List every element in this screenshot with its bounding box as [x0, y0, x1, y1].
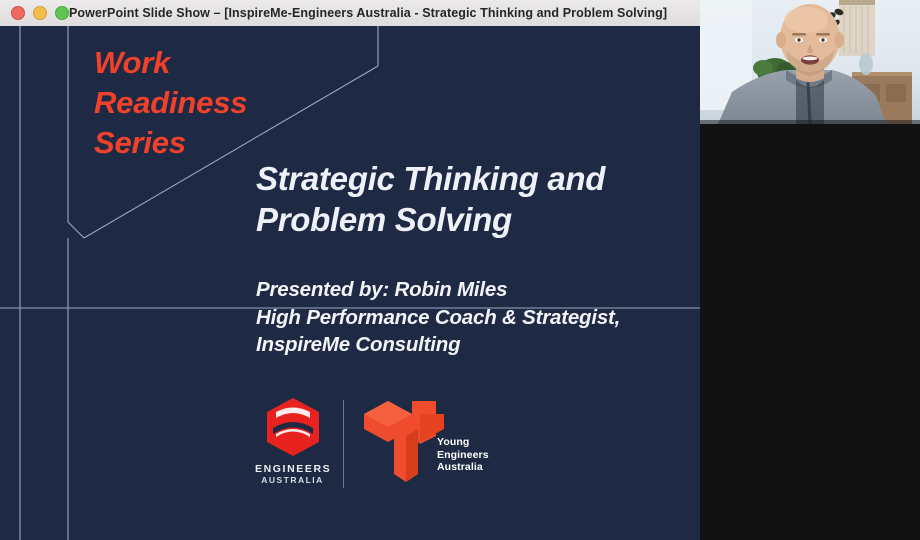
series-line-1: Work [94, 43, 304, 83]
engineers-australia-mark-icon [263, 396, 323, 458]
window-controls[interactable] [0, 6, 69, 20]
yea-word-line-1: Young [437, 436, 489, 449]
engineers-australia-logo: ENGINEERS AUSTRALIA [255, 396, 330, 501]
slide-title: Strategic Thinking and Problem Solving [256, 158, 686, 240]
empty-black-area [700, 124, 920, 540]
slide-title-line-2: Problem Solving [256, 199, 686, 240]
engineers-australia-wordmark-line1: ENGINEERS [255, 463, 330, 475]
presenter-block: Presented by: Robin Miles High Performan… [256, 276, 686, 359]
series-line-3: Series [94, 123, 304, 163]
engineers-australia-wordmark-line2: AUSTRALIA [255, 475, 330, 486]
young-engineers-australia-wordmark: Young Engineers Australia [437, 436, 489, 474]
young-engineers-australia-logo: Young Engineers Australia [360, 396, 490, 496]
screen: PowerPoint Slide Show – [InspireMe-Engin… [0, 0, 920, 540]
close-button[interactable] [11, 6, 25, 20]
presenter-role: High Performance Coach & Strategist, [256, 304, 686, 332]
slide-canvas[interactable]: Work Readiness Series Strategic Thinking… [0, 26, 700, 540]
webcam-frame [700, 0, 920, 124]
series-line-2: Readiness [94, 83, 304, 123]
logo-divider [343, 400, 344, 488]
slide-title-line-1: Strategic Thinking and [256, 158, 686, 199]
window-titlebar[interactable]: PowerPoint Slide Show – [InspireMe-Engin… [0, 0, 700, 27]
yea-word-line-3: Australia [437, 461, 489, 474]
window-title: PowerPoint Slide Show – [InspireMe-Engin… [69, 6, 700, 20]
powerpoint-slideshow-window: PowerPoint Slide Show – [InspireMe-Engin… [0, 0, 700, 540]
presenter-company: InspireMe Consulting [256, 331, 686, 359]
logo-group: ENGINEERS AUSTRALIA Young [255, 396, 485, 506]
presenter-name: Presented by: Robin Miles [256, 276, 686, 304]
zoom-button[interactable] [55, 6, 69, 20]
yea-word-line-2: Engineers [437, 449, 489, 462]
webcam-video-tile[interactable] [700, 0, 920, 124]
minimize-button[interactable] [33, 6, 47, 20]
series-label: Work Readiness Series [94, 43, 304, 163]
